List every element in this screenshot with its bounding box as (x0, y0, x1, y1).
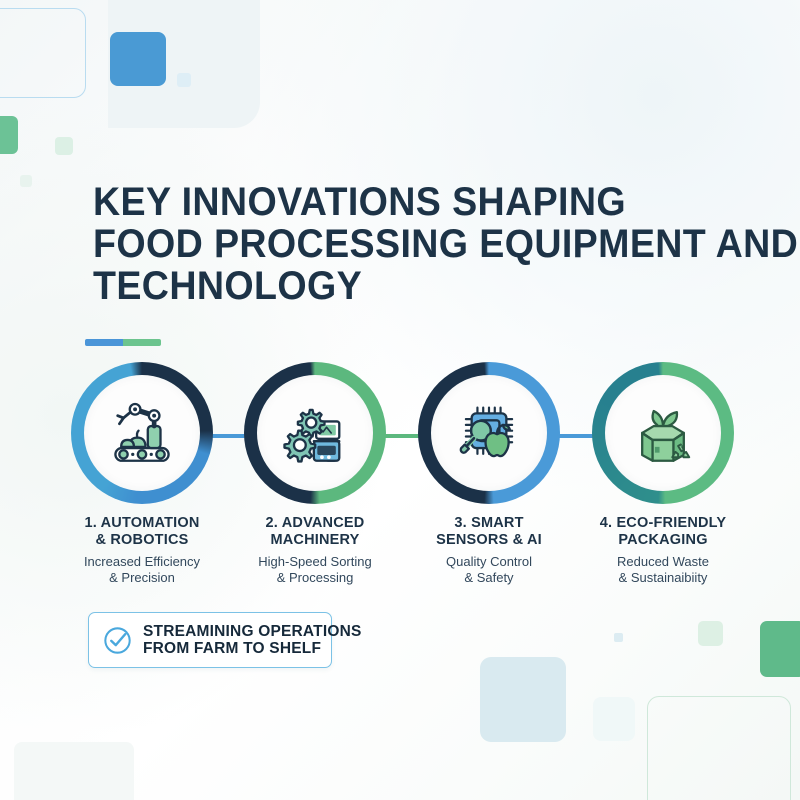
deco-solid-green-square-right (760, 621, 800, 677)
chip-magnifier-apple-icon (431, 375, 547, 491)
deco-solid-green-square-left (0, 116, 18, 154)
deco-green-outline-rect (647, 696, 791, 800)
deco-faint-square-bottom (593, 697, 635, 741)
step-4-subtitle-line-1: Reduced Waste (617, 554, 709, 569)
step-3-subtitle-line-1: Quality Control (446, 554, 532, 569)
step-1-title-line-1: 1. AUTOMATION (84, 515, 199, 531)
page-title: KEY INNOVATIONS SHAPING FOOD PROCESSING … (93, 181, 695, 307)
callout-text: STREAMINING OPERATIONS FROM FARM TO SHEL… (143, 623, 362, 658)
process-steps: 1. AUTOMATION & ROBOTICS Increased Effic… (0, 362, 800, 577)
deco-faint-panel-bottom-left (14, 742, 134, 800)
callout-box[interactable]: STREAMINING OPERATIONS FROM FARM TO SHEL… (88, 612, 332, 668)
step-3-title-line-2: SENSORS & AI (436, 532, 542, 548)
accent-bar-right (123, 339, 161, 346)
eco-box-recycle-icon (605, 375, 721, 491)
step-4-title-line-1: 4. ECO-FRIENDLY (600, 515, 727, 531)
deco-tiny-blue-square (177, 73, 191, 87)
step-automation-robotics[interactable]: 1. AUTOMATION & ROBOTICS Increased Effic… (57, 362, 227, 586)
step-2-subtitle-line-1: High-Speed Sorting (258, 554, 371, 569)
deco-tiny-square-bottom (614, 633, 623, 642)
step-1-subtitle-line-2: & Precision (109, 570, 175, 585)
step-2-title-line-1: 2. ADVANCED (266, 515, 365, 531)
accent-bar-left (85, 339, 123, 346)
step-1-subtitle: Increased Efficiency & Precision (57, 554, 227, 586)
check-circle-icon (103, 626, 132, 655)
step-3-title-line-1: 3. SMART (454, 515, 523, 531)
step-1-badge (71, 362, 213, 504)
title-line-2: FOOD PROCESSING EQUIPMENT AND (93, 223, 695, 265)
step-4-subtitle: Reduced Waste & Sustainaibiity (578, 554, 748, 586)
step-3-subtitle-line-2: & Safety (464, 570, 513, 585)
title-line-3: TECHNOLOGY (93, 265, 695, 307)
step-4-title-line-2: PACKAGING (618, 532, 707, 548)
deco-pale-green-square-bottom (698, 621, 723, 646)
step-4-subtitle-line-2: & Sustainaibiity (619, 570, 708, 585)
robot-arm-conveyor-icon (84, 375, 200, 491)
deco-solid-blue-square (110, 32, 166, 86)
title-accent-bar (85, 339, 161, 346)
title-line-1: KEY INNOVATIONS SHAPING (93, 181, 695, 223)
step-4-badge (592, 362, 734, 504)
step-3-badge (418, 362, 560, 504)
step-smart-sensors-ai[interactable]: 3. SMART SENSORS & AI Quality Control & … (404, 362, 574, 586)
deco-pale-blue-square-bottom (480, 657, 566, 742)
step-3-title: 3. SMART SENSORS & AI (404, 515, 574, 548)
callout-line-2: FROM FARM TO SHELF (143, 640, 362, 658)
step-2-badge (244, 362, 386, 504)
step-1-title-line-2: & ROBOTICS (95, 532, 188, 548)
step-3-subtitle: Quality Control & Safety (404, 554, 574, 586)
step-2-subtitle: High-Speed Sorting & Processing (230, 554, 400, 586)
step-1-subtitle-line-1: Increased Efficiency (84, 554, 200, 569)
step-2-title: 2. ADVANCED MACHINERY (230, 515, 400, 548)
step-4-title: 4. ECO-FRIENDLY PACKAGING (578, 515, 748, 548)
step-1-title: 1. AUTOMATION & ROBOTICS (57, 515, 227, 548)
step-2-subtitle-line-2: & Processing (277, 570, 354, 585)
step-eco-friendly-packaging[interactable]: 4. ECO-FRIENDLY PACKAGING Reduced Waste … (578, 362, 748, 586)
deco-pale-square-mid-left (20, 175, 32, 187)
infographic-canvas: KEY INNOVATIONS SHAPING FOOD PROCESSING … (0, 0, 800, 800)
deco-pale-green-square (55, 137, 73, 155)
deco-outline-square-top-left (0, 8, 86, 98)
gears-machine-icon (257, 375, 373, 491)
step-advanced-machinery[interactable]: 2. ADVANCED MACHINERY High-Speed Sorting… (230, 362, 400, 586)
callout-line-1: STREAMINING OPERATIONS (143, 623, 362, 641)
step-2-title-line-2: MACHINERY (270, 532, 359, 548)
